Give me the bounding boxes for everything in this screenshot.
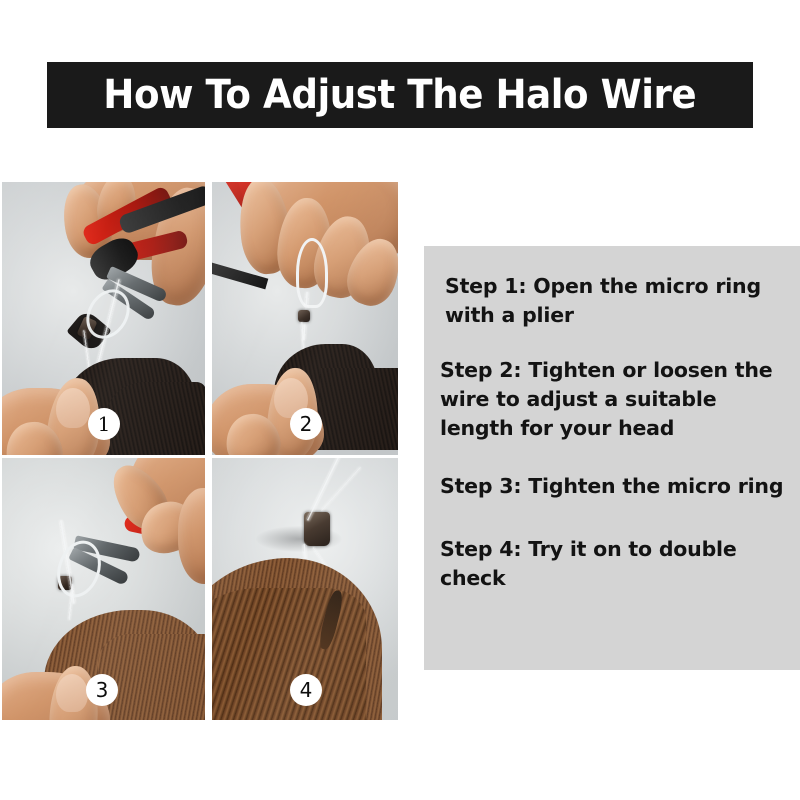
photo-badge-1: 1 [88,408,120,440]
step-3-text: Step 3: Tighten the micro ring [432,472,792,501]
step-1-text: Step 1: Open the micro ring with a plier [432,272,792,330]
step-2-text: Step 2: Tighten or loosen the wire to ad… [432,356,792,443]
photo-badge-2: 2 [290,408,322,440]
steps-panel: Step 1: Open the micro ring with a plier… [424,246,800,670]
photo-step-1: 1 [2,182,205,455]
title-banner: How To Adjust The Halo Wire [47,62,753,128]
photo-badge-4: 4 [290,674,322,706]
photo-step-4: 4 [212,458,398,720]
photo-step-3: 3 [2,458,205,720]
photo-badge-3: 3 [86,674,118,706]
step-4-text: Step 4: Try it on to double check [432,535,792,593]
photo-grid: 1 2 [2,182,398,720]
page-title: How To Adjust The Halo Wire [104,75,697,115]
photo-step-2: 2 [212,182,398,455]
